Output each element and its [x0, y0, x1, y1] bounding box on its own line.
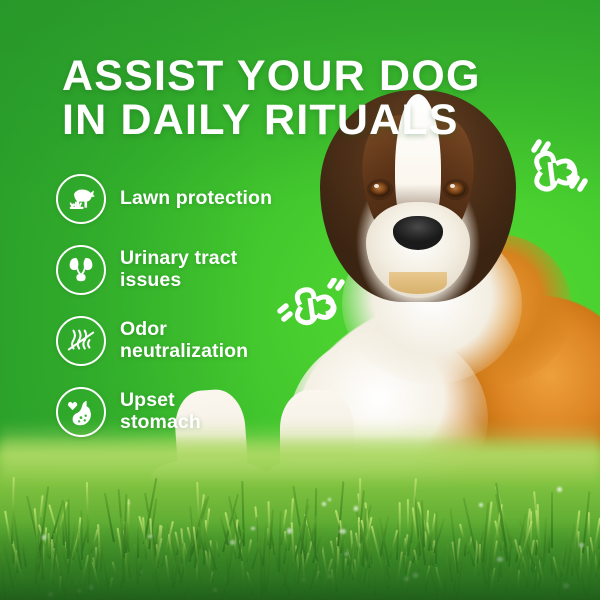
dog-eye-right	[446, 182, 466, 197]
dog-urinating-icon	[56, 174, 106, 224]
kidneys-bladder-icon	[56, 245, 106, 295]
grass-shadow	[0, 522, 600, 600]
list-item-label: Lawn protection	[120, 188, 272, 210]
feature-list: Lawn protection Urinary tract issues	[56, 174, 336, 458]
list-item: Upset stomach	[56, 387, 336, 437]
list-item: Urinary tract issues	[56, 245, 336, 295]
promo-banner: ASSIST YOUR DOG IN DAILY RITUALS Lawn pr…	[0, 0, 600, 600]
dog-mouth	[389, 272, 447, 294]
list-item: Lawn protection	[56, 174, 336, 224]
list-item-label: Odor neutralization	[120, 319, 248, 363]
no-odor-icon	[56, 316, 106, 366]
list-item: Odor neutralization	[56, 316, 336, 366]
page-title: ASSIST YOUR DOG IN DAILY RITUALS	[62, 54, 481, 143]
stomach-heart-icon	[56, 387, 106, 437]
list-item-label: Upset stomach	[120, 390, 201, 434]
dog-eye-left	[370, 182, 390, 197]
list-item-label: Urinary tract issues	[120, 248, 237, 292]
